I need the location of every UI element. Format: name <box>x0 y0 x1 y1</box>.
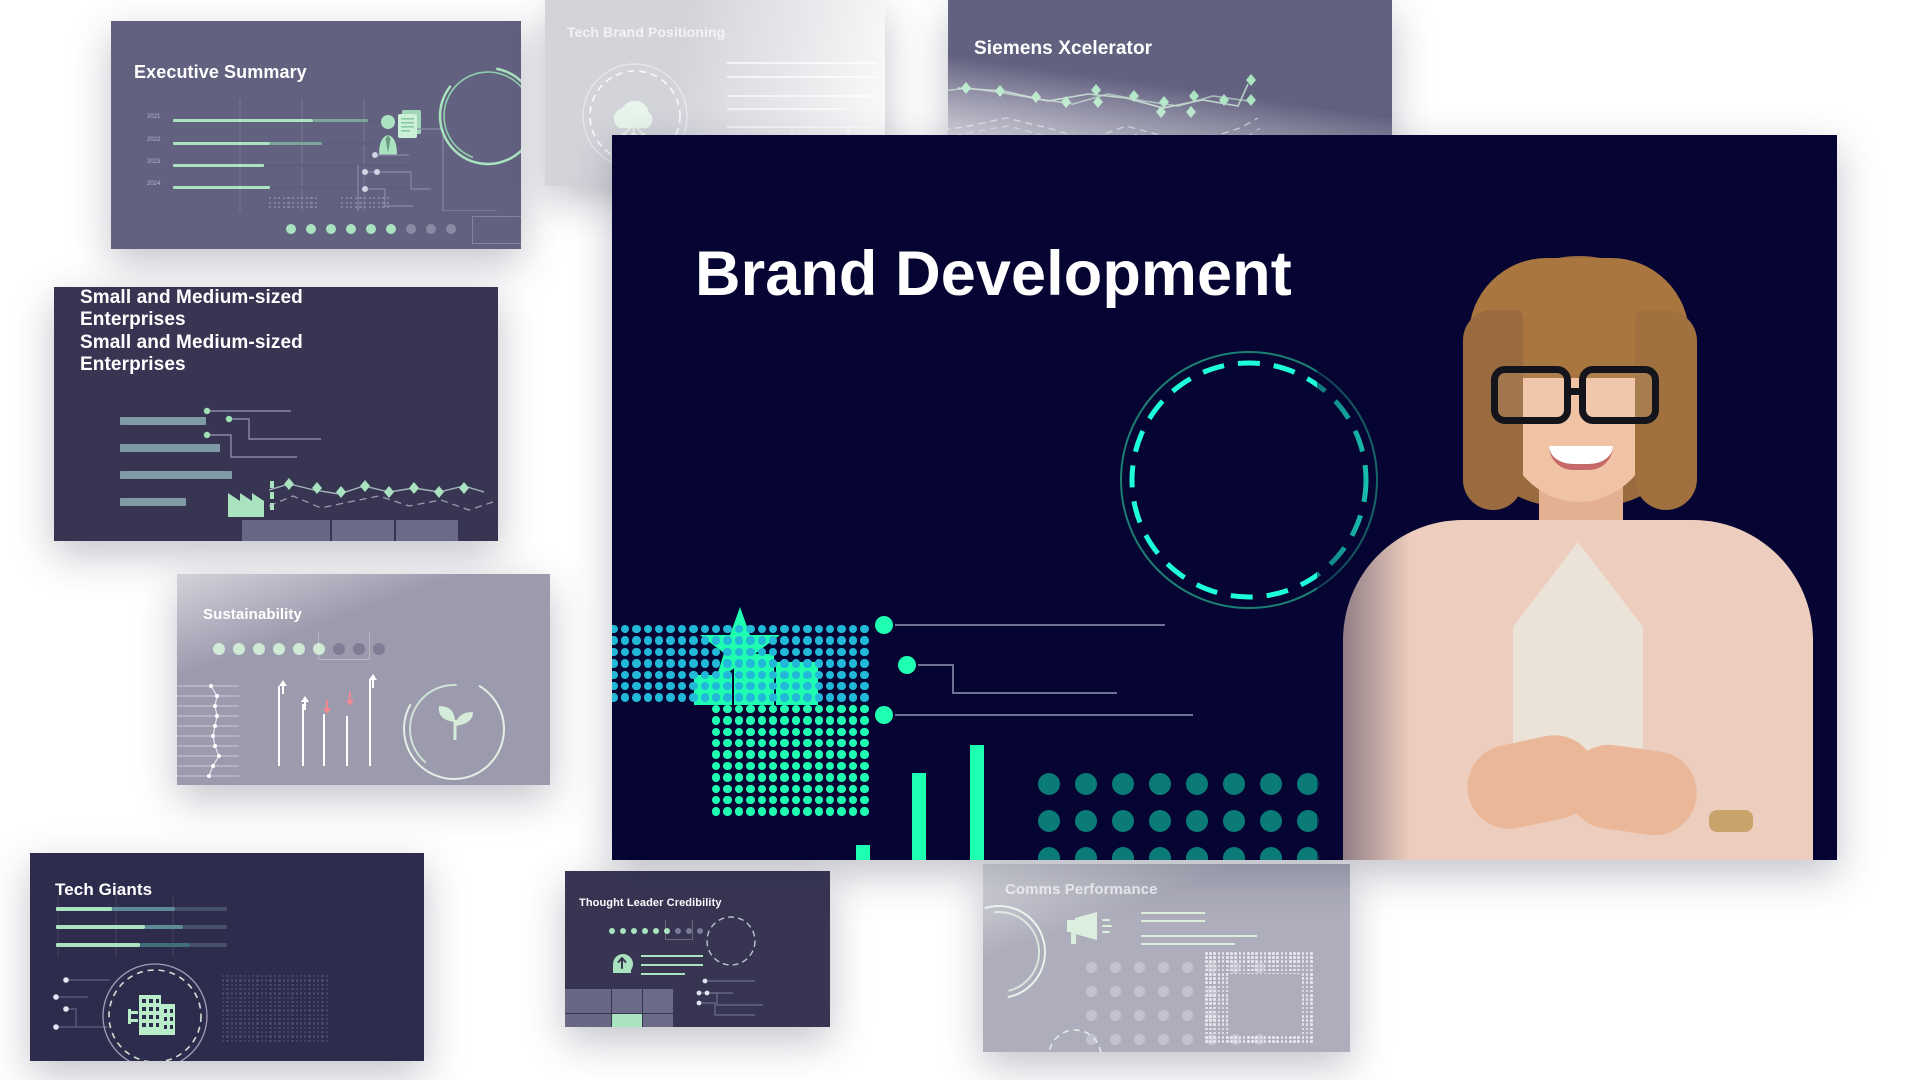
slide-title: Tech Brand Positioning <box>567 24 725 41</box>
step-dot <box>642 928 648 934</box>
step-dot <box>253 643 265 655</box>
office-building-icon <box>98 959 212 1061</box>
slide-gallery: Executive Summary 2021 2022 2023 2024 <box>0 0 1920 1080</box>
donut-arc <box>433 61 521 171</box>
text-line <box>1141 920 1205 922</box>
highlight-box <box>318 632 370 660</box>
step-dot <box>286 224 296 234</box>
bar <box>120 498 186 506</box>
square-outline <box>1228 974 1302 1034</box>
step-dot <box>653 928 659 934</box>
slope-chart <box>177 682 247 784</box>
presenter-figure <box>1317 220 1837 860</box>
step-dot <box>631 928 637 934</box>
text-line <box>641 964 703 966</box>
slide-title: Sustainability <box>203 606 302 624</box>
step-dot <box>620 928 626 934</box>
step-dot <box>406 224 416 234</box>
head-arrow-up-icon <box>611 951 635 975</box>
card <box>565 1014 611 1027</box>
slide-title: Siemens Xcelerator <box>974 38 1152 60</box>
step-dot <box>373 643 385 655</box>
step-dot <box>273 643 285 655</box>
card <box>396 520 458 541</box>
flow-diagram <box>695 977 815 1023</box>
flow-diagram <box>875 615 1275 735</box>
highlight-box <box>472 216 521 244</box>
step-dot <box>609 928 615 934</box>
hero-title: Brand Development <box>695 237 1292 311</box>
step-dot <box>213 643 225 655</box>
card <box>332 520 394 541</box>
text-line <box>1141 912 1205 914</box>
slide-title-text: Small and Medium-sized Enterprises <box>80 332 370 377</box>
card <box>612 989 642 1013</box>
text-line <box>727 126 877 128</box>
slide-title: Small and Medium-sized Enterprises <box>80 287 380 332</box>
step-dot <box>326 224 336 234</box>
megaphone-icon <box>1065 910 1117 946</box>
step-dot <box>426 224 436 234</box>
text-line <box>641 973 685 975</box>
dashed-circle <box>705 915 757 967</box>
slide-title: Tech Giants <box>55 880 152 900</box>
step-dot <box>346 224 356 234</box>
slide-title: Comms Performance <box>1005 881 1158 899</box>
bar <box>120 417 206 425</box>
slide-thought-leader-credibility[interactable]: Thought Leader Credibility <box>565 871 830 1027</box>
step-dot <box>386 224 396 234</box>
card <box>565 989 611 1013</box>
highlight-box <box>665 920 693 940</box>
slide-title: Thought Leader Credibility <box>579 897 722 910</box>
row-label: 2021 <box>147 114 160 120</box>
slide-sustainability[interactable]: Sustainability <box>177 574 550 785</box>
text-line <box>1141 935 1257 937</box>
card <box>242 520 330 541</box>
slide-executive-summary-footer <box>111 211 521 249</box>
row-label: 2022 <box>147 137 160 143</box>
presenter-photo <box>1317 220 1837 860</box>
card <box>643 1014 673 1027</box>
text-line <box>727 76 877 78</box>
row-label: 2023 <box>147 159 160 165</box>
step-dot <box>233 643 245 655</box>
donut-arc <box>110 515 230 541</box>
text-line <box>727 62 877 64</box>
step-dot <box>697 928 703 934</box>
text-line <box>641 955 703 957</box>
text-line <box>1141 943 1235 945</box>
slide-comms-performance[interactable]: Comms Performance <box>983 864 1350 1052</box>
row-label: 2024 <box>147 181 160 187</box>
card-highlight <box>612 1014 642 1027</box>
brand-development-slide[interactable]: Brand Development <box>612 135 1837 860</box>
donut-arc <box>983 900 1055 1004</box>
step-dot <box>446 224 456 234</box>
step-dot <box>366 224 376 234</box>
card <box>643 989 673 1013</box>
text-line <box>727 95 877 97</box>
step-dot <box>293 643 305 655</box>
slide-small-and-medium-sized-enterprises[interactable]: Small and Medium-sized Enterprises Small… <box>54 287 498 541</box>
dashed-circle <box>1045 1026 1105 1052</box>
slide-title: Executive Summary <box>134 62 307 83</box>
slide-tech-giants[interactable]: Tech Giants <box>30 853 424 1061</box>
leaf-sprout-icon <box>395 674 513 784</box>
step-dot <box>306 224 316 234</box>
text-line <box>727 108 845 110</box>
